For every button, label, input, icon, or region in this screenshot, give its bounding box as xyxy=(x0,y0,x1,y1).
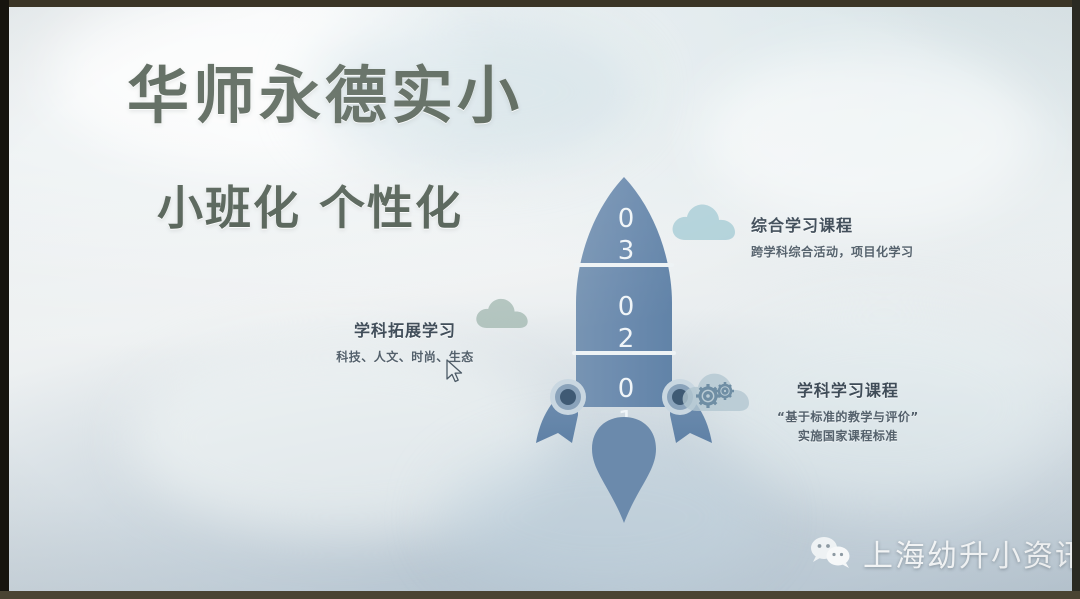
cloud-icon xyxy=(671,200,739,246)
background-wash xyxy=(129,337,559,537)
cloud-icon xyxy=(475,295,531,333)
watermark-text: 上海幼升小资讯 xyxy=(863,531,1072,575)
rocket-stage-number: 0 3 0 2 0 1 xyxy=(618,204,635,436)
callout-subject-extension[interactable]: 学科拓展学习 科技、人文、时尚、生态 xyxy=(315,317,495,367)
watermark: 上海幼升小资讯 xyxy=(809,531,1072,575)
wechat-icon xyxy=(809,536,853,570)
slide-title: 华师永德实小 xyxy=(127,63,647,128)
callout-title: 学科学习课程 xyxy=(777,377,919,401)
photo-edge-top xyxy=(0,0,1080,7)
callout-subtitle-line: “基于标准的教学与评价” xyxy=(777,408,919,427)
rocket-porthole-left xyxy=(550,379,586,415)
callout-comprehensive-course[interactable]: 综合学习课程 跨学科综合活动，项目化学习 xyxy=(751,212,914,262)
stage-digit: 0 xyxy=(618,204,635,234)
photo-edge-right xyxy=(1072,0,1080,599)
stage-digit: 3 xyxy=(618,236,635,266)
callout-subtitle: 科技、人文、时尚、生态 xyxy=(315,348,495,367)
callout-title: 综合学习课程 xyxy=(751,212,914,236)
callout-subject-course[interactable]: 学科学习课程 “基于标准的教学与评价” 实施国家课程标准 xyxy=(777,377,919,445)
rocket-flame xyxy=(592,417,656,523)
background-wash xyxy=(699,47,1039,227)
stage-digit: 0 xyxy=(618,374,635,404)
callout-subtitle: “基于标准的教学与评价” 实施国家课程标准 xyxy=(777,408,919,445)
callout-subtitle-line: 实施国家课程标准 xyxy=(777,427,919,446)
callout-subtitle: 跨学科综合活动，项目化学习 xyxy=(751,243,914,262)
stage-digit: 2 xyxy=(618,324,635,354)
presentation-slide: 华师永德实小 小班化 个性化 xyxy=(9,7,1072,591)
callout-title: 学科拓展学习 xyxy=(315,317,495,341)
stage-digit: 0 xyxy=(618,292,635,322)
photo-edge-bottom xyxy=(0,591,1080,599)
cloud-gears-icon xyxy=(681,369,753,417)
screenshot-root: 华师永德实小 小班化 个性化 xyxy=(0,0,1080,599)
mouse-pointer-icon xyxy=(445,359,465,385)
photo-edge-left xyxy=(0,0,9,599)
